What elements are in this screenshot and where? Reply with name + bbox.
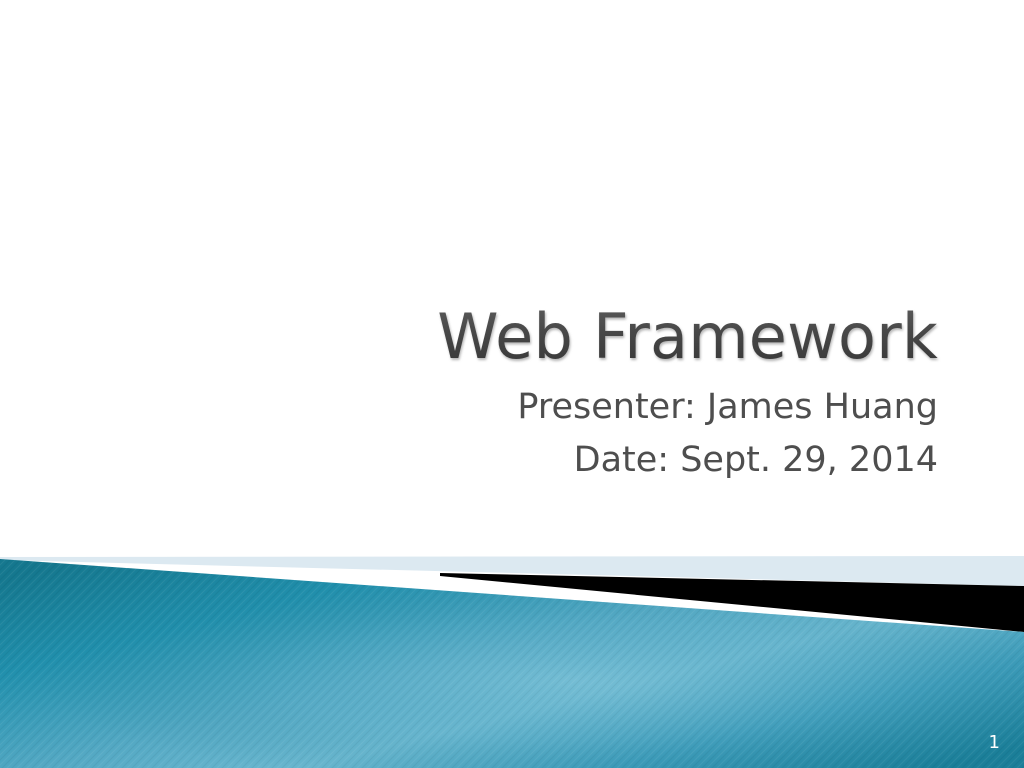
title-block: Web Framework Presenter: James Huang Dat… <box>0 296 938 484</box>
decorative-banner: 1 <box>0 545 1024 768</box>
page-number: 1 <box>989 732 1000 754</box>
presentation-slide: Web Framework Presenter: James Huang Dat… <box>0 0 1024 768</box>
subtitle-line-presenter: Presenter: James Huang <box>0 384 938 431</box>
banner-shapes <box>0 545 1024 768</box>
page-title: Web Framework <box>0 296 938 378</box>
subtitle-line-date: Date: Sept. 29, 2014 <box>0 437 938 484</box>
